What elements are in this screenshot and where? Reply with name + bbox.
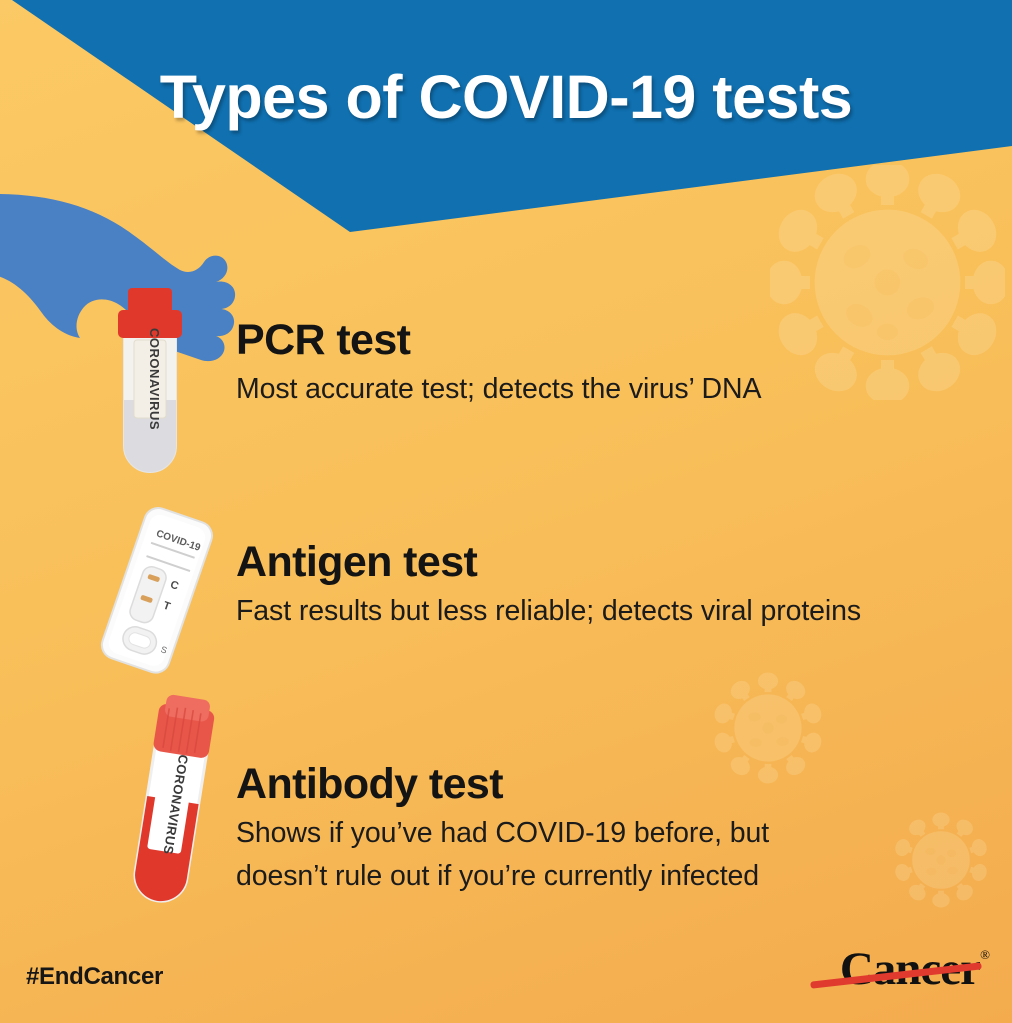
antigen-heading: Antigen test — [236, 540, 861, 585]
antibody-description-line1: Shows if you’ve had COVID-19 before, but — [236, 813, 769, 853]
blood-collection-tube-icon: CORONAVIRUS — [118, 694, 226, 918]
tube-label-text: CORONAVIRUS — [147, 328, 162, 430]
pcr-description: Most accurate test; detects the virus’ D… — [236, 369, 761, 409]
logo-registered-mark: ® — [980, 947, 990, 963]
md-anderson-cancer-logo[interactable]: Cancer ® — [804, 943, 994, 999]
rapid-antigen-cassette-icon: COVID-19 C T S — [76, 505, 236, 675]
antibody-heading: Antibody test — [236, 762, 769, 807]
page-title: Types of COVID-19 tests — [0, 62, 1012, 132]
virus-small-bottom-right-icon — [893, 812, 989, 908]
hashtag-end-cancer[interactable]: #EndCancer — [26, 963, 163, 991]
test-tube-swab-icon: CORONAVIRUS — [104, 288, 196, 488]
antigen-description: Fast results but less reliable; detects … — [236, 591, 861, 631]
pcr-heading: PCR test — [236, 318, 761, 363]
infographic-poster: Types of COVID-19 tests CORONAVIRUS PCR … — [0, 0, 1012, 1023]
antibody-description-line2: doesn’t rule out if you’re currently inf… — [236, 856, 769, 896]
